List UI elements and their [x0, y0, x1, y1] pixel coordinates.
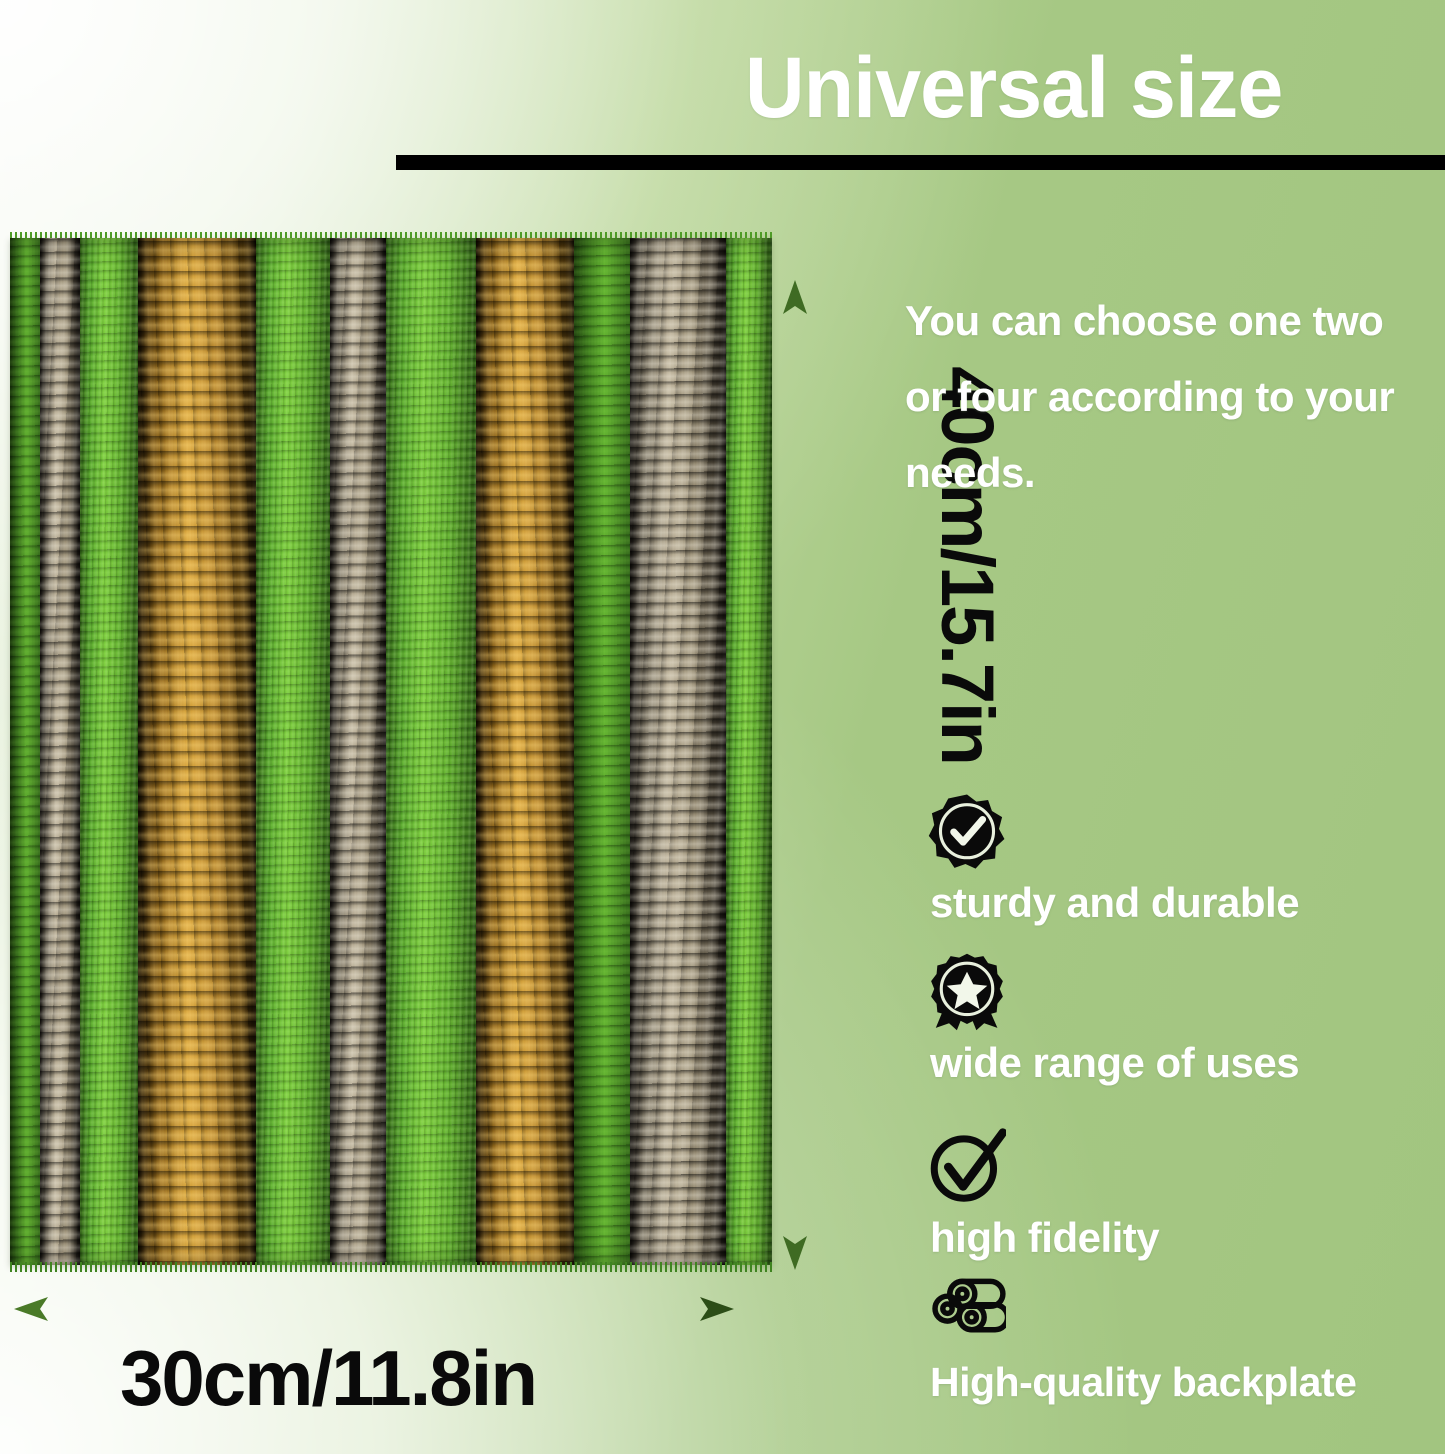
width-dimension-label: 30cm/11.8in [120, 1330, 740, 1426]
width-dimension-arrow [14, 1292, 734, 1326]
bark-band [138, 238, 256, 1265]
moss-bark-panel [10, 238, 772, 1265]
title-underline-rule [396, 155, 1445, 170]
moss-band [10, 238, 40, 1265]
bark-band [476, 238, 574, 1265]
award-rosette-icon [928, 953, 1006, 1031]
moss-band [386, 238, 476, 1265]
moss-band [726, 238, 772, 1265]
page-title: Universal size [745, 38, 1379, 138]
feature-label: high fidelity [930, 1210, 1445, 1266]
seal-check-icon [928, 793, 1006, 871]
bark-band [630, 238, 726, 1265]
infographic-page: Universal size 40cm/15.7in [0, 0, 1445, 1454]
stacked-logs-icon [928, 1272, 1006, 1350]
bark-band [40, 238, 80, 1265]
height-dimension-arrow [778, 280, 812, 1270]
moss-band [80, 238, 138, 1265]
sidebar-blurb: You can choose one two or four according… [905, 283, 1425, 511]
circle-check-icon [928, 1128, 1006, 1206]
feature-label: High-quality backplate [930, 1354, 1445, 1410]
bark-band [330, 238, 386, 1265]
moss-band [574, 238, 630, 1265]
feature-label: sturdy and durable [930, 875, 1445, 931]
feature-label: wide range of uses [930, 1035, 1445, 1091]
moss-band [256, 238, 330, 1265]
panel-bottom-fringe [10, 1262, 772, 1272]
